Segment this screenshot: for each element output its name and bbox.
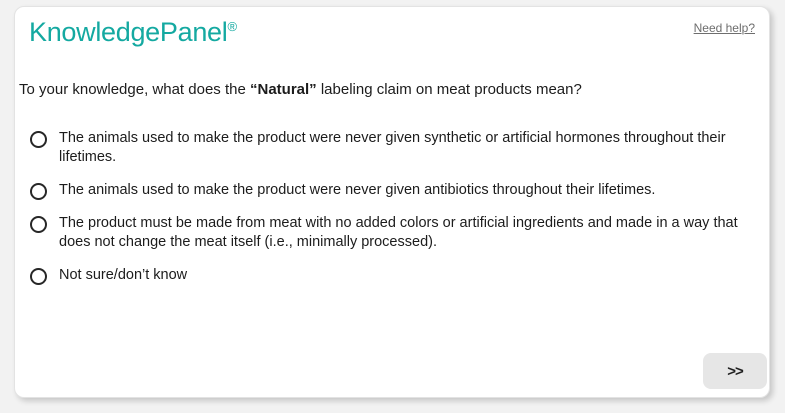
brand-name: KnowledgePanel — [29, 17, 227, 47]
registered-trademark-icon: ® — [227, 19, 236, 34]
radio-button-option-1[interactable] — [30, 131, 47, 148]
radio-button-option-4[interactable] — [30, 268, 47, 285]
need-help-link[interactable]: Need help? — [694, 21, 755, 35]
answer-option-3-label: The product must be made from meat with … — [59, 214, 766, 252]
card-header: KnowledgePanel® Need help? — [15, 7, 769, 59]
answer-option-4-label: Not sure/don’t know — [59, 266, 187, 285]
radio-button-option-3[interactable] — [30, 216, 47, 233]
question-emphasis: “Natural” — [250, 81, 317, 98]
answer-option-1[interactable]: The animals used to make the product wer… — [19, 129, 771, 181]
survey-card: KnowledgePanel® Need help? To your knowl… — [14, 6, 770, 398]
question-prompt: To your knowledge, what does the “Natura… — [19, 80, 759, 100]
next-button[interactable]: >> — [703, 353, 767, 389]
answer-option-1-label: The animals used to make the product wer… — [59, 129, 766, 167]
question-text-part-1: To your knowledge, what does the — [19, 81, 250, 98]
answer-option-2[interactable]: The animals used to make the product wer… — [19, 181, 771, 214]
answer-options-list: The animals used to make the product wer… — [19, 129, 771, 299]
answer-option-3[interactable]: The product must be made from meat with … — [19, 214, 771, 266]
radio-button-option-2[interactable] — [30, 183, 47, 200]
question-text-part-2: labeling claim on meat products mean? — [317, 81, 582, 98]
answer-option-4[interactable]: Not sure/don’t know — [19, 266, 771, 299]
answer-option-2-label: The animals used to make the product wer… — [59, 181, 655, 200]
knowledgepanel-logo: KnowledgePanel® — [29, 17, 237, 48]
